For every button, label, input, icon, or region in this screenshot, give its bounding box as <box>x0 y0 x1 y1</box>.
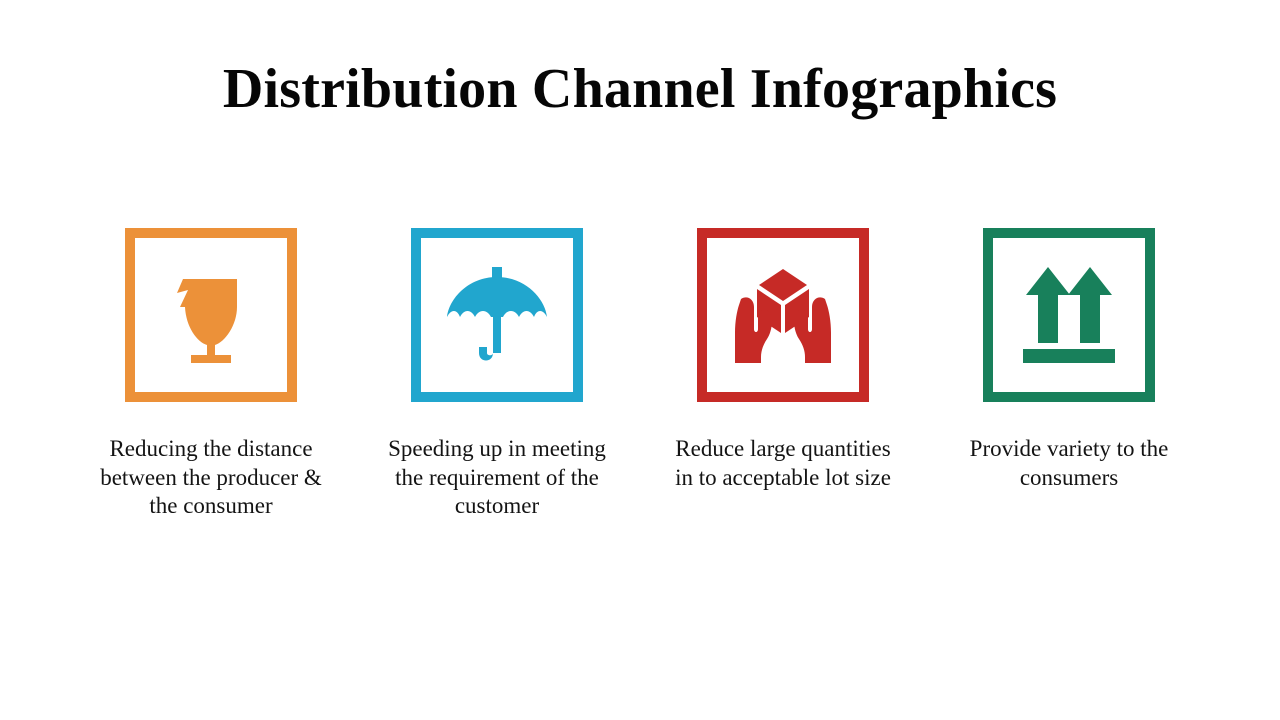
icon-frame-handle-with-care[interactable] <box>697 228 869 402</box>
icon-frame-fragile[interactable] <box>125 228 297 402</box>
infographic-card-fragile[interactable]: Reducing the distance between the produc… <box>88 228 334 521</box>
icon-frame-keep-dry[interactable] <box>411 228 583 402</box>
card-caption-this-side-up: Provide variety to the consumers <box>950 435 1188 492</box>
card-caption-keep-dry: Speeding up in meeting the requirement o… <box>378 435 616 521</box>
broken-glass-fragile-icon <box>155 259 267 371</box>
icon-frame-this-side-up[interactable] <box>983 228 1155 402</box>
hands-holding-box-icon <box>727 259 839 371</box>
card-caption-fragile: Reducing the distance between the produc… <box>92 435 330 521</box>
infographic-card-handle-with-care[interactable]: Reduce large quantities in to acceptable… <box>660 228 906 492</box>
infographic-card-this-side-up[interactable]: Provide variety to the consumers <box>946 228 1192 492</box>
umbrella-keep-dry-icon <box>441 259 553 371</box>
infographic-card-row: Reducing the distance between the produc… <box>88 228 1192 521</box>
two-up-arrows-icon <box>1013 259 1125 371</box>
infographic-card-keep-dry[interactable]: Speeding up in meeting the requirement o… <box>374 228 620 521</box>
card-caption-handle-with-care: Reduce large quantities in to acceptable… <box>664 435 902 492</box>
slide-canvas: Distribution Channel Infographics Reduci… <box>0 0 1280 720</box>
page-title: Distribution Channel Infographics <box>0 56 1280 122</box>
